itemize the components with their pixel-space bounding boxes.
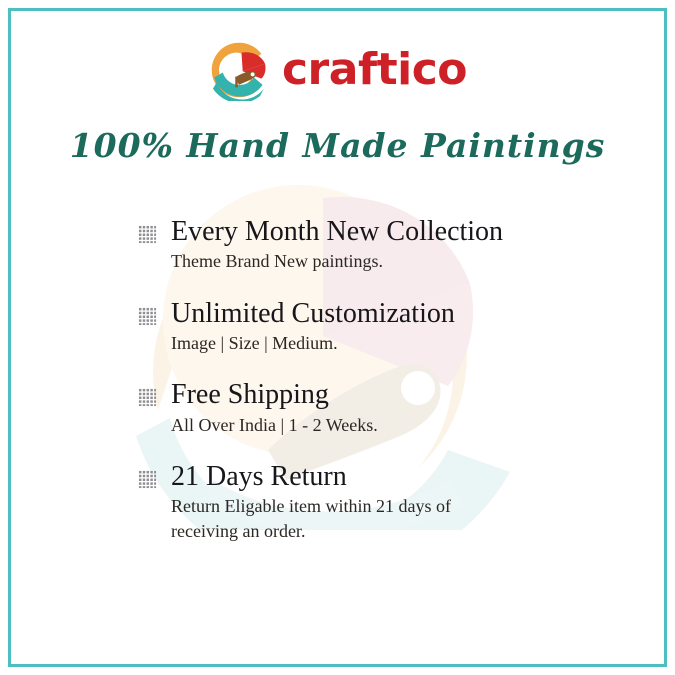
weave-square-icon: [138, 225, 157, 244]
feature-title: Every Month New Collection: [171, 216, 598, 247]
feature-item: Unlimited Customization Image | Size | M…: [138, 298, 598, 356]
feature-item: 21 Days Return Return Eligable item with…: [138, 461, 598, 543]
feature-subtitle: Return Eligable item within 21 days of r…: [171, 494, 501, 543]
logo-brush-stem: [235, 76, 237, 87]
feature-title: 21 Days Return: [171, 461, 598, 492]
tagline: 100% Hand Made Paintings: [0, 126, 675, 165]
brand-header: craftico: [0, 34, 675, 106]
feature-subtitle: All Over India | 1 - 2 Weeks.: [171, 413, 501, 437]
feature-subtitle: Theme Brand New paintings.: [171, 249, 501, 273]
feature-subtitle: Image | Size | Medium.: [171, 331, 501, 355]
feature-list: Every Month New Collection Theme Brand N…: [138, 216, 598, 543]
feature-title: Unlimited Customization: [171, 298, 598, 329]
logo-handle-hole: [251, 72, 255, 76]
weave-square-icon: [138, 388, 157, 407]
craftico-logo-mark-icon: [208, 39, 270, 101]
feature-text: Every Month New Collection Theme Brand N…: [171, 216, 598, 274]
feature-text: 21 Days Return Return Eligable item with…: [171, 461, 598, 543]
feature-text: Free Shipping All Over India | 1 - 2 Wee…: [171, 379, 598, 437]
weave-square-icon: [138, 470, 157, 489]
feature-item: Free Shipping All Over India | 1 - 2 Wee…: [138, 379, 598, 437]
brand-wordmark: craftico: [282, 48, 467, 92]
feature-item: Every Month New Collection Theme Brand N…: [138, 216, 598, 274]
promo-card: craftico 100% Hand Made Paintings: [0, 0, 675, 675]
feature-title: Free Shipping: [171, 379, 598, 410]
weave-square-icon: [138, 307, 157, 326]
feature-text: Unlimited Customization Image | Size | M…: [171, 298, 598, 356]
